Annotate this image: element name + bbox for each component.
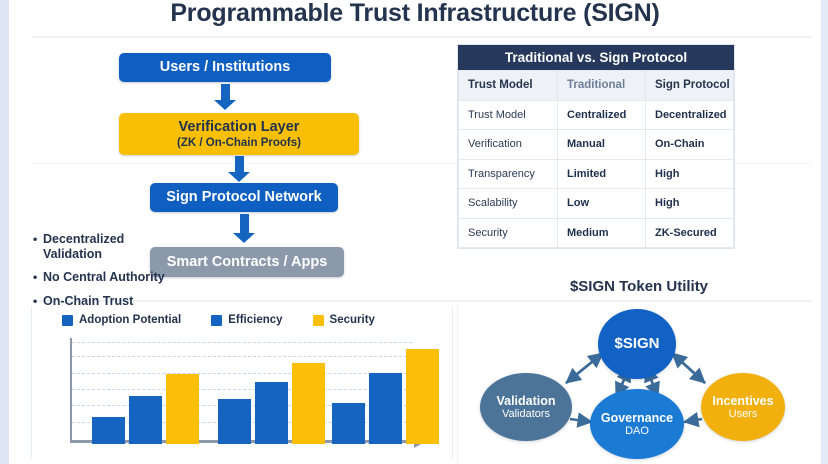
chart-bar (218, 399, 251, 444)
chart-bar (332, 403, 365, 444)
flow-node-verification-layer[interactable]: Verification Layer (ZK / On-Chain Proofs… (119, 113, 359, 155)
table-col-header-sign-protocol: Sign Protocol (646, 71, 734, 101)
page-title: Programmable Trust Infrastructure (SIGN) (9, 0, 821, 30)
flow-arrow-down-icon-3 (233, 214, 255, 243)
table-cell: High (646, 159, 734, 189)
token-node-governance-label: Governance (601, 411, 673, 425)
table-cell: Manual (558, 130, 646, 160)
token-utility-title: $SIGN Token Utility (457, 278, 821, 295)
flow-node-apps-label: Smart Contracts / Apps (167, 254, 328, 271)
token-node-sign-label: $SIGN (614, 337, 659, 351)
table-cell: Low (558, 189, 646, 219)
table-cell: On-Chain (646, 130, 734, 160)
table-cell: Transparency (459, 159, 558, 189)
table-header-row: Trust Model Traditional Sign Protocol (459, 71, 734, 101)
table-cell: Security (459, 218, 558, 248)
token-node-validation[interactable]: Validation Validators (480, 373, 572, 441)
list-item-label: Decentralized Validation (43, 232, 168, 261)
table-row: Transparency Limited High (459, 159, 734, 189)
bullet-dot-icon: • (33, 232, 43, 247)
chart-bar (129, 396, 162, 444)
table-row: Scalability Low High (459, 189, 734, 219)
chart-gridline (72, 373, 412, 374)
chart-gridline (72, 342, 412, 343)
table-row: Security Medium ZK-Secured (459, 218, 734, 248)
chart-bar (255, 382, 288, 444)
chart-gridline (72, 356, 412, 357)
chart-y-axis (70, 338, 72, 442)
flow-arrow-down-icon-2 (228, 156, 250, 182)
token-node-incentives-label: Incentives (712, 394, 773, 408)
page-edge-left (0, 0, 9, 464)
legend-item-security: Security (313, 314, 375, 326)
token-node-validation-sublabel: Validators (502, 408, 550, 421)
token-node-governance-sublabel: DAO (625, 425, 649, 438)
flow-arrow-down-icon-1 (214, 84, 236, 110)
token-utility-diagram: $SIGN Token Utility (457, 278, 821, 464)
table-cell: Decentralized (646, 100, 734, 130)
flow-node-sign-protocol-network[interactable]: Sign Protocol Network (150, 183, 338, 212)
slide-canvas: Programmable Trust Infrastructure (SIGN)… (9, 0, 821, 464)
comparison-table-title: Traditional vs. Sign Protocol (458, 45, 734, 70)
table-cell: ZK-Secured (646, 218, 734, 248)
legend-swatch-icon (313, 315, 324, 326)
flow-node-network-label: Sign Protocol Network (166, 189, 322, 206)
legend-label: Efficiency (228, 314, 282, 326)
legend-label: Adoption Potential (79, 314, 181, 326)
table-cell: Verification (459, 130, 558, 160)
metrics-bar-chart: Adoption Potential Efficiency Security (31, 306, 453, 458)
table-cell: Medium (558, 218, 646, 248)
flow-node-verification-sublabel: (ZK / On-Chain Proofs) (177, 136, 301, 150)
comparison-table: Trust Model Traditional Sign Protocol Tr… (458, 70, 734, 248)
flow-node-smart-contracts-apps[interactable]: Smart Contracts / Apps (150, 247, 344, 277)
chart-bar (166, 374, 199, 444)
table-cell: Limited (558, 159, 646, 189)
table-col-header-traditional: Traditional (558, 71, 646, 101)
flow-node-verification-label: Verification Layer (179, 119, 300, 136)
table-row: Trust Model Centralized Decentralized (459, 100, 734, 130)
chart-gridline (72, 389, 412, 390)
flow-node-users[interactable]: Users / Institutions (119, 53, 331, 82)
bullet-dot-icon: • (33, 270, 43, 285)
token-node-governance[interactable]: Governance DAO (590, 389, 684, 459)
chart-bar (92, 417, 125, 444)
chart-bar (369, 373, 402, 444)
flow-node-users-label: Users / Institutions (160, 59, 291, 76)
table-cell: Centralized (558, 100, 646, 130)
legend-swatch-icon (211, 315, 222, 326)
legend-item-efficiency: Efficiency (211, 314, 282, 326)
token-node-sign[interactable]: $SIGN (598, 309, 676, 379)
list-item: • No Central Authority (33, 270, 168, 285)
chart-bar (292, 363, 325, 444)
legend-item-adoption-potential: Adoption Potential (62, 314, 181, 326)
comparison-table-card: Traditional vs. Sign Protocol Trust Mode… (457, 44, 735, 249)
divider-top (32, 36, 812, 38)
table-cell: Trust Model (459, 100, 558, 130)
table-cell: High (646, 189, 734, 219)
list-item: • Decentralized Validation (33, 232, 168, 261)
table-cell: Scalability (459, 189, 558, 219)
chart-bar (406, 349, 439, 444)
page-edge-right (821, 0, 828, 464)
token-node-incentives[interactable]: Incentives Users (701, 373, 785, 441)
token-node-incentives-sublabel: Users (729, 408, 758, 421)
legend-swatch-icon (62, 315, 73, 326)
feature-bullet-list: • Decentralized Validation • No Central … (33, 232, 168, 317)
token-node-validation-label: Validation (496, 394, 555, 408)
legend-label: Security (330, 314, 375, 326)
architecture-flow-diagram: Users / Institutions Verification Layer … (9, 40, 449, 290)
table-row: Verification Manual On-Chain (459, 130, 734, 160)
token-utility-canvas: $SIGN Validation Validators Governance D… (457, 305, 822, 464)
table-col-header-trust-model: Trust Model (459, 71, 558, 101)
list-item-label: No Central Authority (43, 270, 165, 285)
chart-legend: Adoption Potential Efficiency Security (62, 314, 375, 326)
chart-plot-area (70, 338, 430, 446)
